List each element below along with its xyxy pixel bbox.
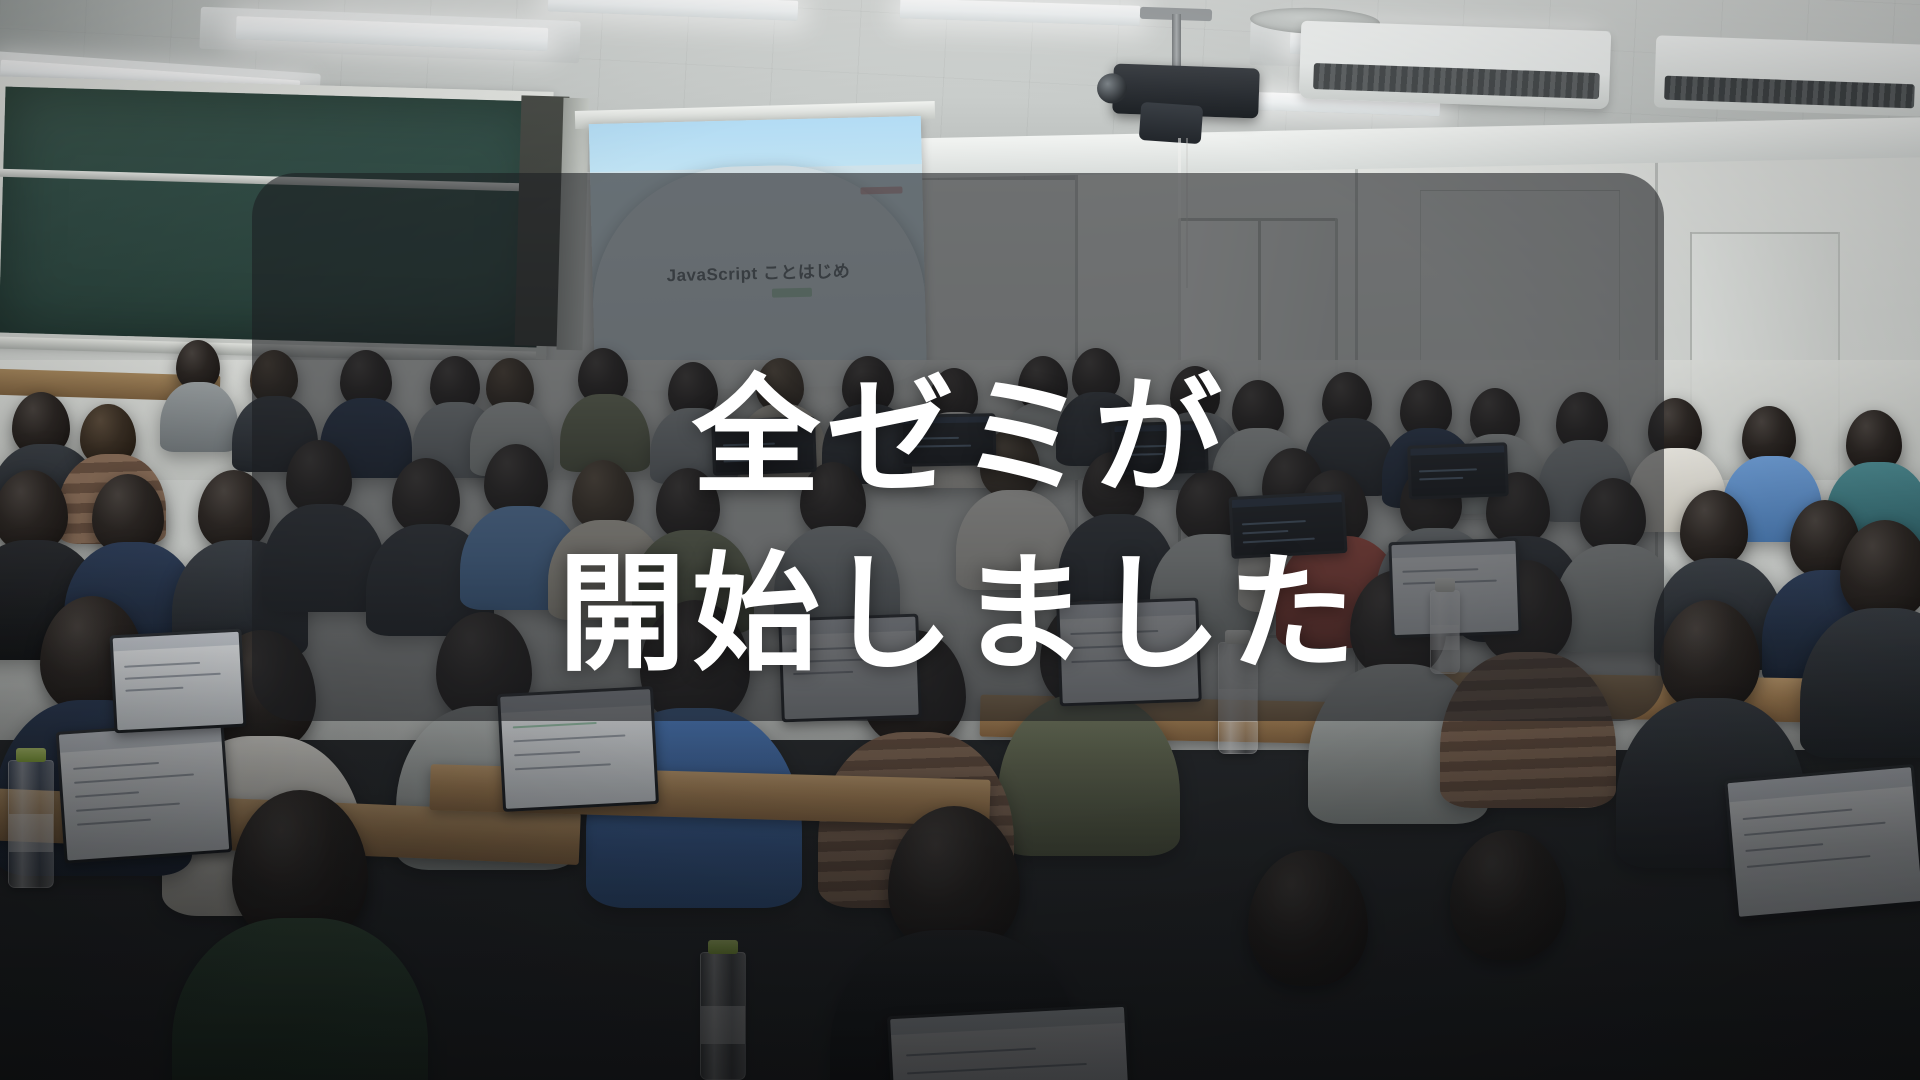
screen-line [514,751,580,756]
screen-line [1747,855,1871,868]
bottle-label [701,1006,745,1044]
laptop-screen [113,632,244,730]
screen-line [1745,843,1823,852]
screen-line [76,803,180,812]
screen-line [906,1048,1036,1057]
water-bottle [700,952,746,1080]
bottle-cap [16,748,46,762]
screen-line [1744,822,1886,836]
screen-line [73,762,159,770]
screenshot-root: JavaScript ことはじめ [0,0,1920,1080]
screen-line [75,791,139,797]
screen-line [513,722,597,728]
laptop-lid [1724,764,1920,920]
laptop-lid [56,720,233,863]
screen-line [515,763,611,770]
laptop-lid [887,1004,1133,1080]
screen-line [513,735,625,743]
laptop-screen [890,1007,1130,1080]
laptop [110,629,247,734]
bottle-cap [708,940,738,954]
laptop [1724,764,1920,920]
screen-line [125,687,183,692]
bottle-label [9,814,53,852]
screen-line [1743,809,1853,821]
screen-line [125,673,221,680]
water-bottle [8,760,54,888]
laptop-screen [59,724,229,861]
screen-line [124,662,200,668]
person-body [160,382,238,452]
screen-line [74,773,194,783]
laptop [56,720,233,863]
person-body [172,918,428,1080]
person-head [1450,830,1566,960]
screen-line [907,1063,1087,1074]
laptop-screen [1728,767,1920,917]
laptop [887,1004,1133,1080]
screen-line [77,819,151,826]
text-overlay-panel [252,173,1664,721]
laptop-lid [110,629,247,734]
person-head [1248,850,1368,986]
screen-header [113,632,240,651]
